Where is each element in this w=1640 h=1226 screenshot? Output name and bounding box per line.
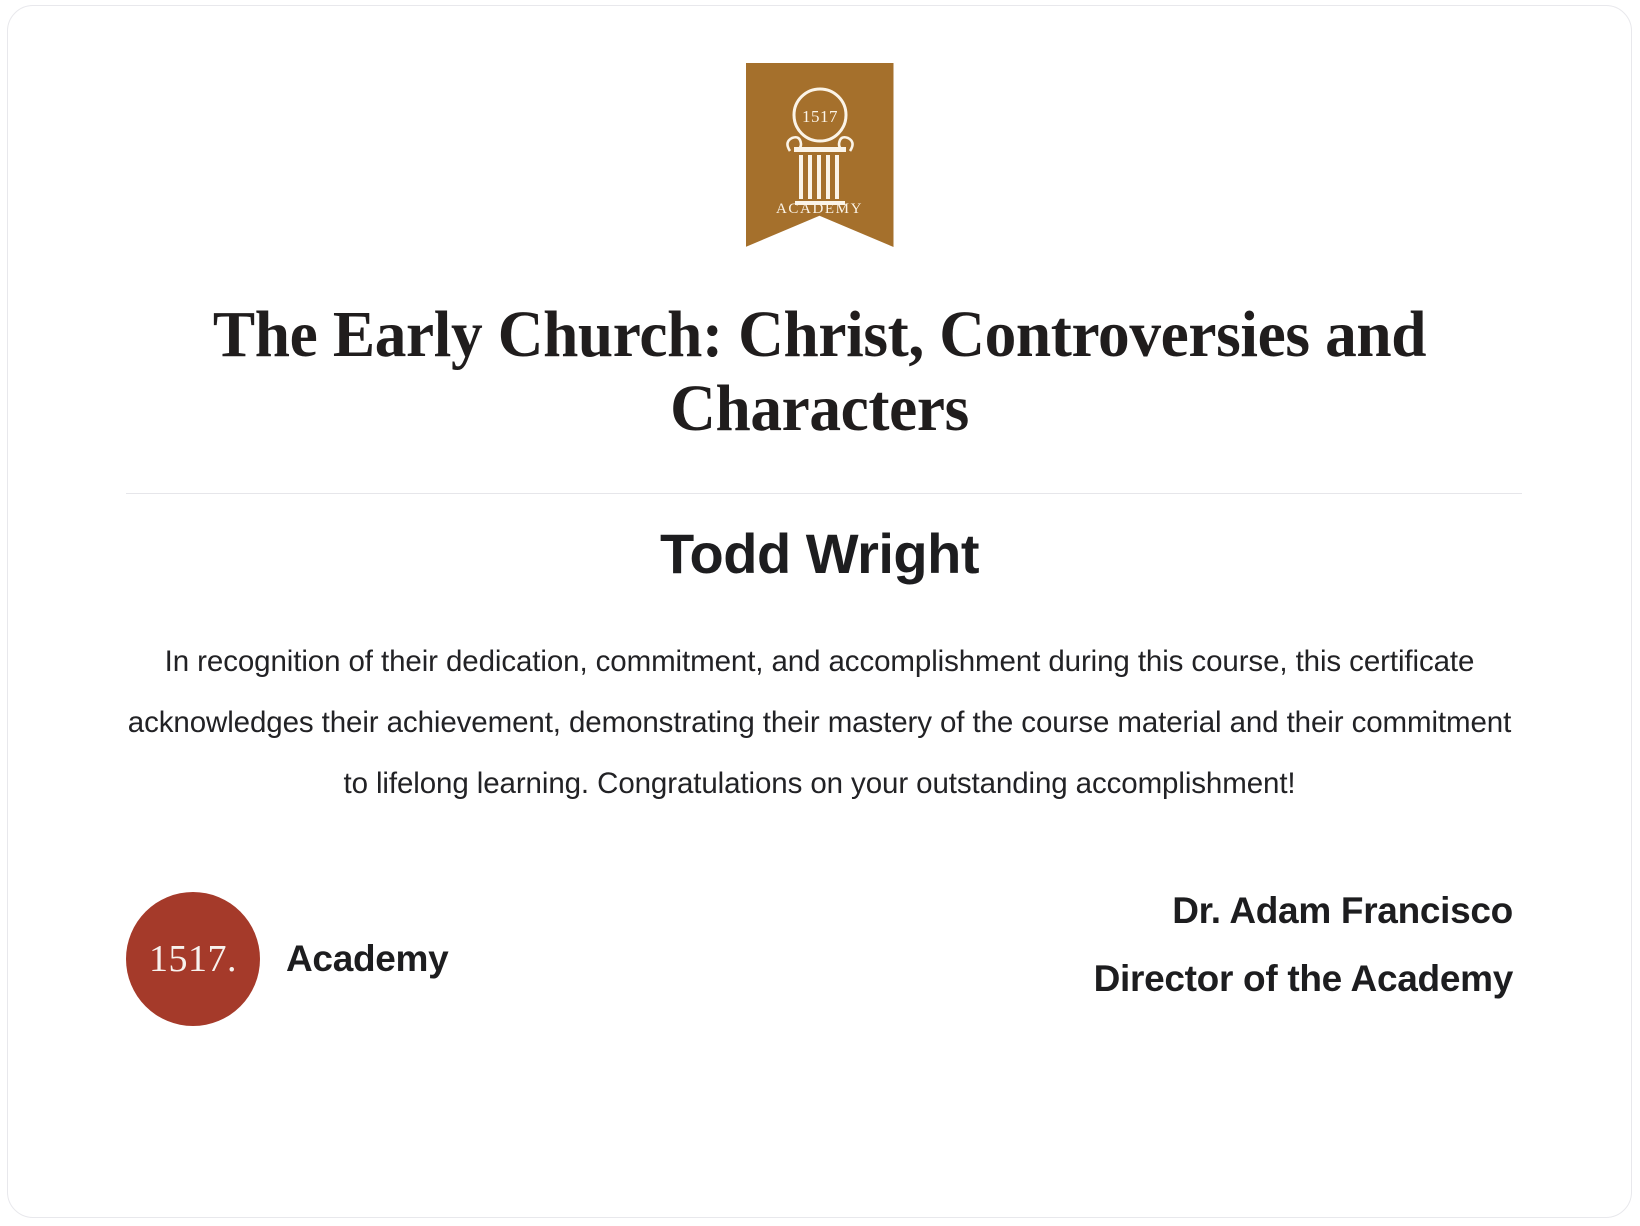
- brand-name: Academy: [286, 938, 448, 980]
- brand-seal-text: 1517.: [149, 940, 237, 978]
- signatory-role: Director of the Academy: [1094, 960, 1513, 997]
- logo-banner-container: 1517 ACADEMY: [8, 63, 1631, 247]
- certificate-card: 1517 ACADEMY The Early Church: Christ, C…: [7, 5, 1632, 1218]
- brand-seal-icon: 1517.: [126, 892, 260, 1026]
- brand-block: 1517. Academy: [126, 886, 448, 1026]
- recipient-name: Todd Wright: [8, 520, 1631, 587]
- citation-text: In recognition of their dedication, comm…: [126, 631, 1513, 814]
- signatory-block: Dr. Adam Francisco Director of the Acade…: [1094, 886, 1513, 997]
- pillar-column-icon: 1517: [768, 85, 872, 217]
- section-divider: [126, 493, 1522, 494]
- course-title: The Early Church: Christ, Controversies …: [156, 298, 1484, 446]
- certificate-footer: 1517. Academy Dr. Adam Francisco Directo…: [126, 886, 1513, 1036]
- academy-pillar-banner-logo: 1517 ACADEMY: [746, 63, 894, 247]
- signatory-name: Dr. Adam Francisco: [1094, 892, 1513, 929]
- svg-text:1517: 1517: [802, 107, 838, 126]
- academy-wordmark: ACADEMY: [776, 201, 863, 218]
